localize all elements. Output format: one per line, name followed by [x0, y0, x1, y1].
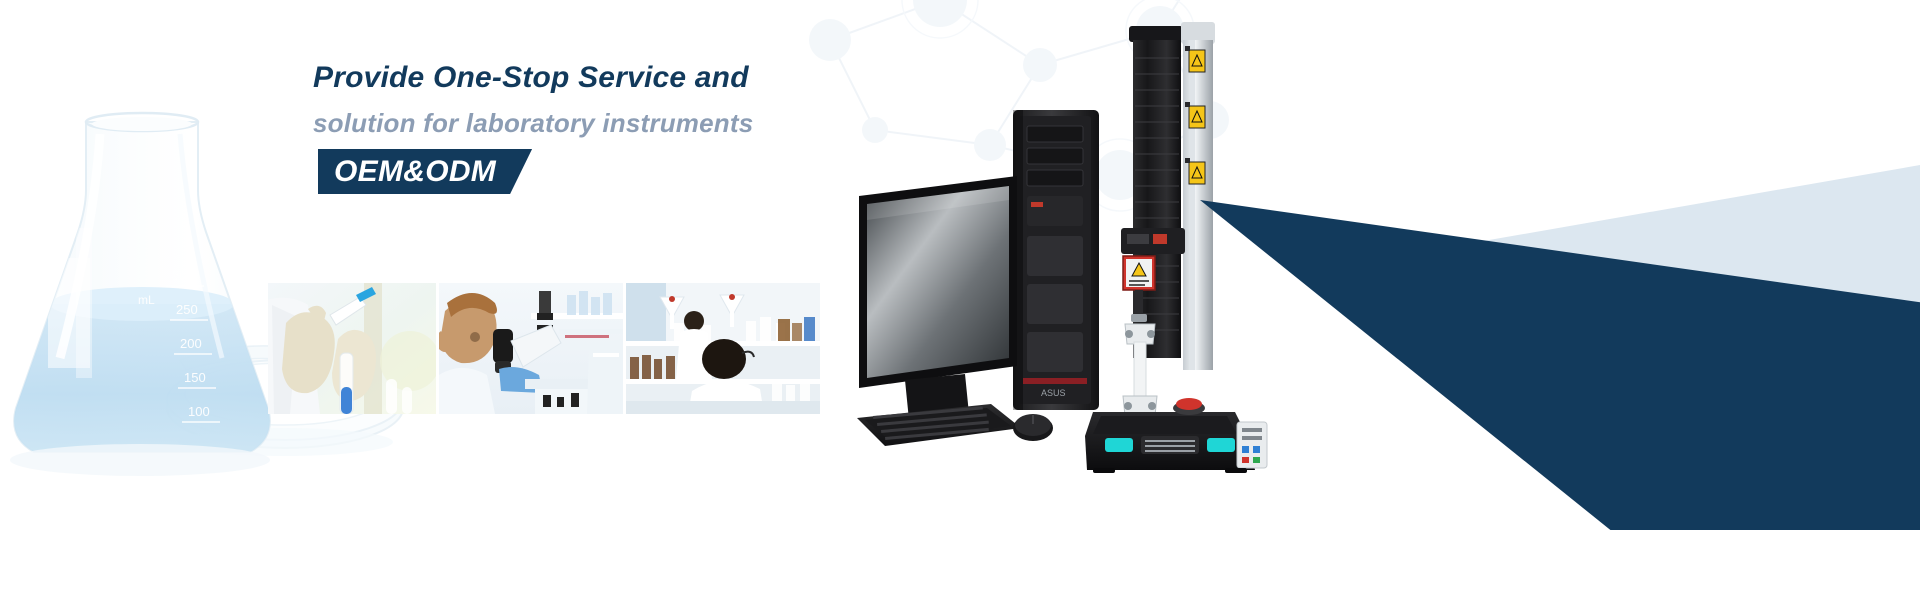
lcd-monitor [859, 176, 1017, 434]
oem-odm-badge-label: OEM&ODM [334, 155, 496, 189]
svg-text:150: 150 [184, 370, 206, 385]
computer-mouse [1013, 414, 1053, 441]
svg-text:mL: mL [138, 293, 155, 307]
hero-banner: 300 250 200 150 100 mL Provi [0, 0, 1920, 597]
photo-laboratory-workers [626, 283, 820, 414]
svg-text:250: 250 [176, 302, 198, 317]
warning-label-group [1189, 50, 1205, 184]
photo-microscope [439, 283, 623, 414]
photo-pipetting [268, 283, 436, 414]
universal-tensile-testing-machine [1085, 18, 1275, 473]
svg-text:300: 300 [172, 268, 194, 283]
computer-keyboard [857, 404, 1021, 446]
oem-odm-badge: OEM&ODM [318, 149, 532, 194]
lab-photo-strip [268, 283, 820, 414]
svg-text:200: 200 [180, 336, 202, 351]
svg-text:ASUS: ASUS [1041, 388, 1066, 398]
svg-text:100: 100 [188, 404, 210, 419]
